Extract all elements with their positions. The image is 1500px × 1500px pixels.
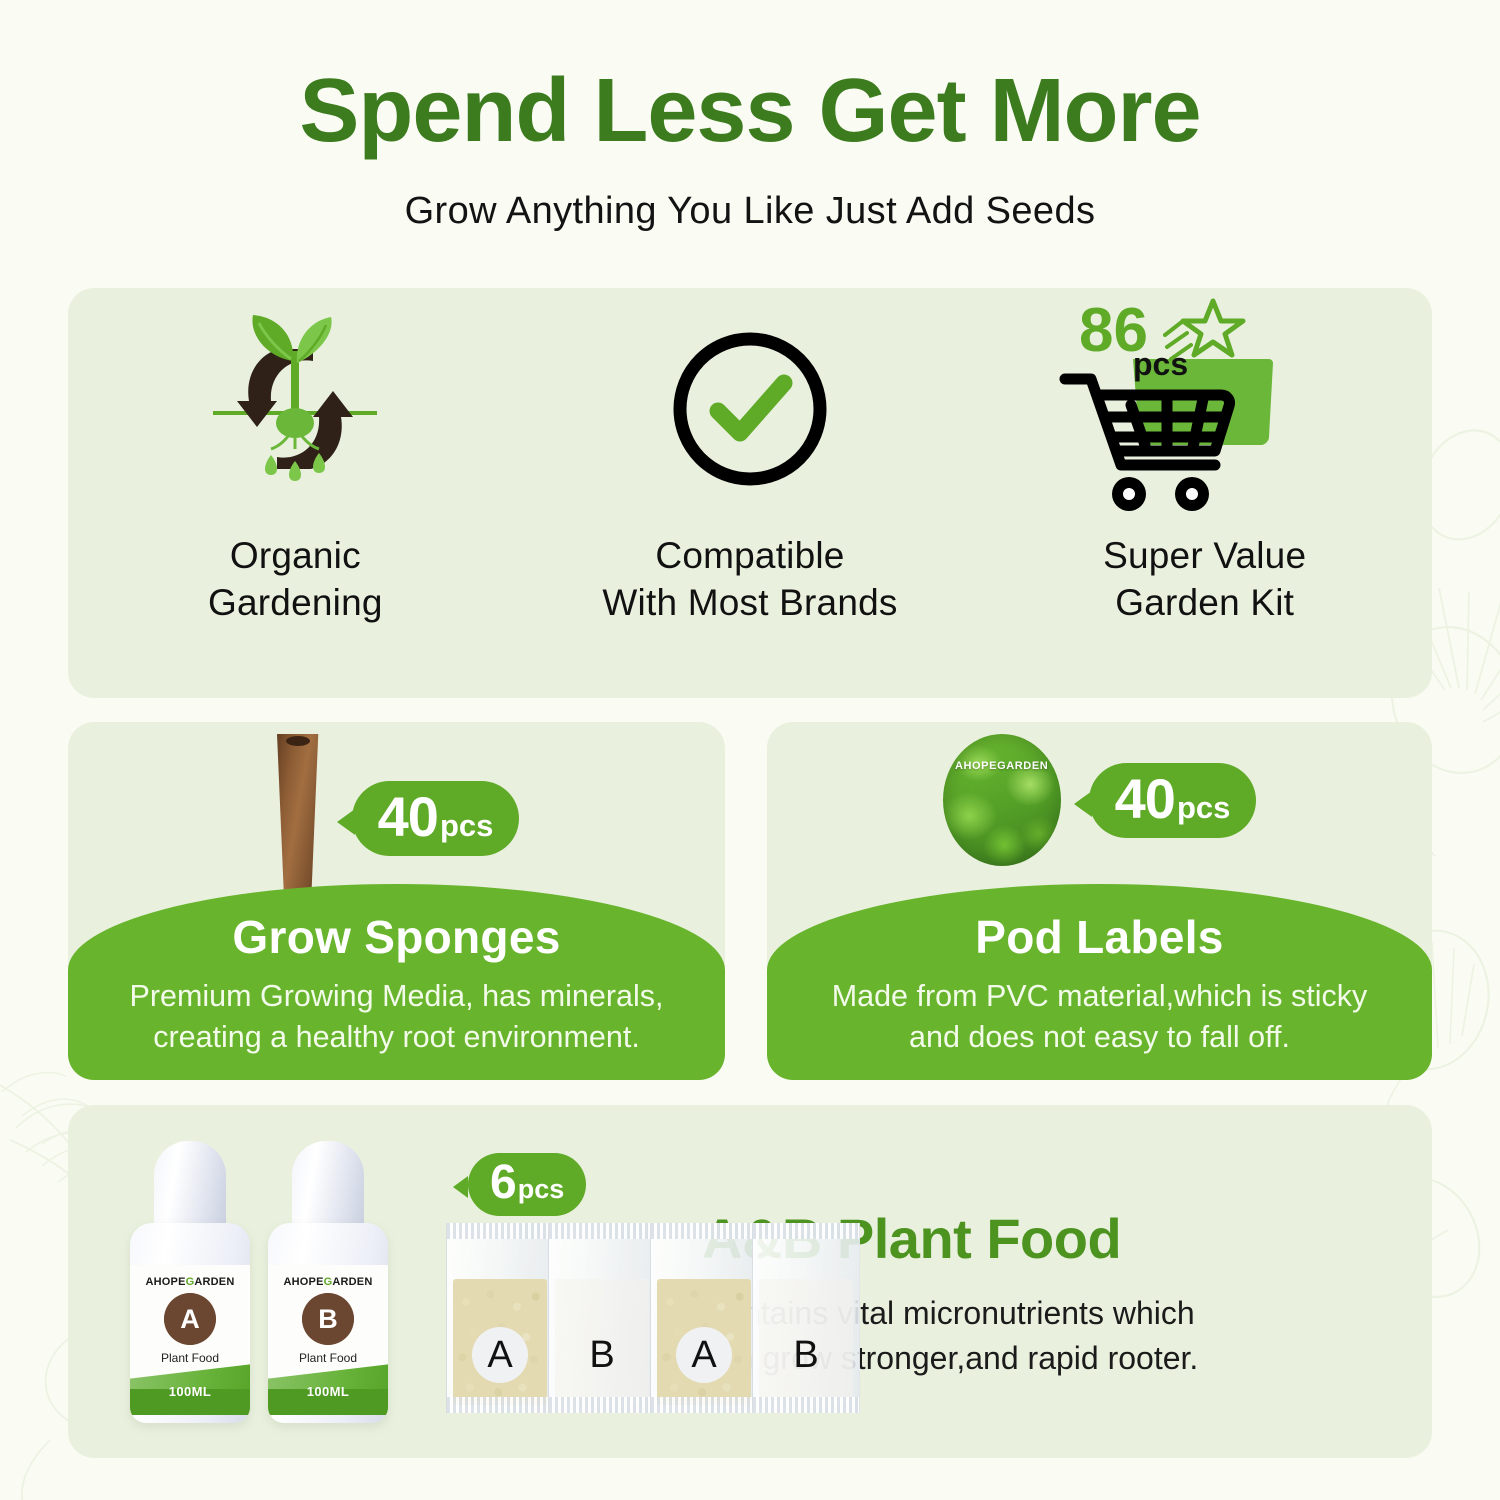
card-desc-line2: and does not easy to fall off. bbox=[909, 1020, 1290, 1054]
card-desc-line1: Premium Growing Media, has minerals, bbox=[130, 979, 664, 1013]
plant-food-bottles: AHOPEGARDEN A Plant Food 100ML AHOPEGARD… bbox=[130, 1141, 388, 1423]
sachet-b: B bbox=[548, 1223, 656, 1413]
bottle-letter-badge: A bbox=[167, 1296, 213, 1342]
feature-compatible-brands: Compatible With Most Brands bbox=[523, 288, 978, 698]
feature-label: Organic Gardening bbox=[208, 532, 383, 627]
check-circle-icon bbox=[662, 288, 838, 518]
feature-label: Super Value Garden Kit bbox=[1103, 532, 1306, 627]
feature-label-line1: Super Value bbox=[1103, 535, 1306, 576]
bottle-brand: AHOPEGARDEN bbox=[130, 1276, 250, 1288]
badge-count: 6 bbox=[490, 1159, 516, 1207]
grow-sponge-plug-icon bbox=[274, 734, 322, 902]
sachet-letter: B bbox=[778, 1327, 834, 1383]
card-desc-line1: Made from PVC material,which is sticky bbox=[832, 979, 1368, 1013]
shopping-cart-icon: 86 pcs bbox=[1055, 288, 1355, 518]
feature-label: Compatible With Most Brands bbox=[602, 532, 897, 627]
plant-food-sachets: A B A B bbox=[446, 1223, 854, 1413]
sachet-a-2: A bbox=[650, 1223, 758, 1413]
feature-label-line2: With Most Brands bbox=[602, 582, 897, 623]
card-description: Made from PVC material,which is sticky a… bbox=[767, 976, 1432, 1057]
sachet-letter: A bbox=[472, 1327, 528, 1383]
feature-label-line2: Garden Kit bbox=[1115, 582, 1294, 623]
page-subtitle: Grow Anything You Like Just Add Seeds bbox=[0, 190, 1500, 233]
bottle-letter-badge: B bbox=[305, 1296, 351, 1342]
card-arch: Grow Sponges Premium Growing Media, has … bbox=[68, 884, 725, 1080]
labels-count-badge: 40 pcs bbox=[1089, 763, 1257, 838]
card-plant-food: AHOPEGARDEN A Plant Food 100ML AHOPEGARD… bbox=[68, 1105, 1432, 1458]
bottle-cap bbox=[292, 1141, 364, 1233]
card-desc-line2: creating a healthy root environment. bbox=[153, 1020, 640, 1054]
card-pod-labels: AHOPEGARDEN 40 pcs Pod Labels Made from … bbox=[767, 722, 1432, 1080]
header: Spend Less Get More Grow Anything You Li… bbox=[0, 0, 1500, 233]
badge-unit: pcs bbox=[440, 810, 493, 841]
card-title: Grow Sponges bbox=[68, 914, 725, 960]
sachet-b-2: B bbox=[752, 1223, 860, 1413]
sachet-letter: B bbox=[574, 1327, 630, 1383]
card-description: Premium Growing Media, has minerals, cre… bbox=[68, 976, 725, 1057]
badge-unit: pcs bbox=[518, 1176, 565, 1203]
bottle-cap bbox=[154, 1141, 226, 1233]
feature-organic-gardening: Organic Gardening bbox=[68, 288, 523, 698]
sprout-recycle-icon bbox=[195, 288, 395, 518]
card-title: Pod Labels bbox=[767, 914, 1432, 960]
card-grow-sponges: 40 pcs Grow Sponges Premium Growing Medi… bbox=[68, 722, 725, 1080]
pod-label-brand: AHOPEGARDEN bbox=[943, 760, 1061, 772]
feature-super-value-kit: 86 pcs bbox=[977, 288, 1432, 698]
badge-count: 40 bbox=[1115, 771, 1175, 827]
bottle-b: AHOPEGARDEN B Plant Food 100ML bbox=[268, 1141, 388, 1423]
plant-food-count-badge: 6 pcs bbox=[468, 1153, 586, 1216]
sachet-a: A bbox=[446, 1223, 554, 1413]
card-arch: Pod Labels Made from PVC material,which … bbox=[767, 884, 1432, 1080]
bottle-volume: 100ML bbox=[130, 1384, 250, 1399]
bottle-brand: AHOPEGARDEN bbox=[268, 1276, 388, 1288]
badge-unit: pcs bbox=[1177, 792, 1230, 823]
feature-label-line1: Organic bbox=[230, 535, 361, 576]
bottle-a: AHOPEGARDEN A Plant Food 100ML bbox=[130, 1141, 250, 1423]
sachet-letter: A bbox=[676, 1327, 732, 1383]
bottle-volume: 100ML bbox=[268, 1384, 388, 1399]
basil-pod-label-disc-icon: AHOPEGARDEN bbox=[943, 734, 1061, 866]
page-title: Spend Less Get More bbox=[0, 66, 1500, 156]
feature-label-line2: Gardening bbox=[208, 582, 383, 623]
bottle-subtitle: Plant Food bbox=[130, 1351, 250, 1365]
features-panel: Organic Gardening Compatible With Most B… bbox=[68, 288, 1432, 698]
badge-count: 40 bbox=[378, 789, 438, 845]
sponges-count-badge: 40 pcs bbox=[352, 781, 520, 856]
feature-label-line1: Compatible bbox=[655, 535, 844, 576]
bottle-subtitle: Plant Food bbox=[268, 1351, 388, 1365]
